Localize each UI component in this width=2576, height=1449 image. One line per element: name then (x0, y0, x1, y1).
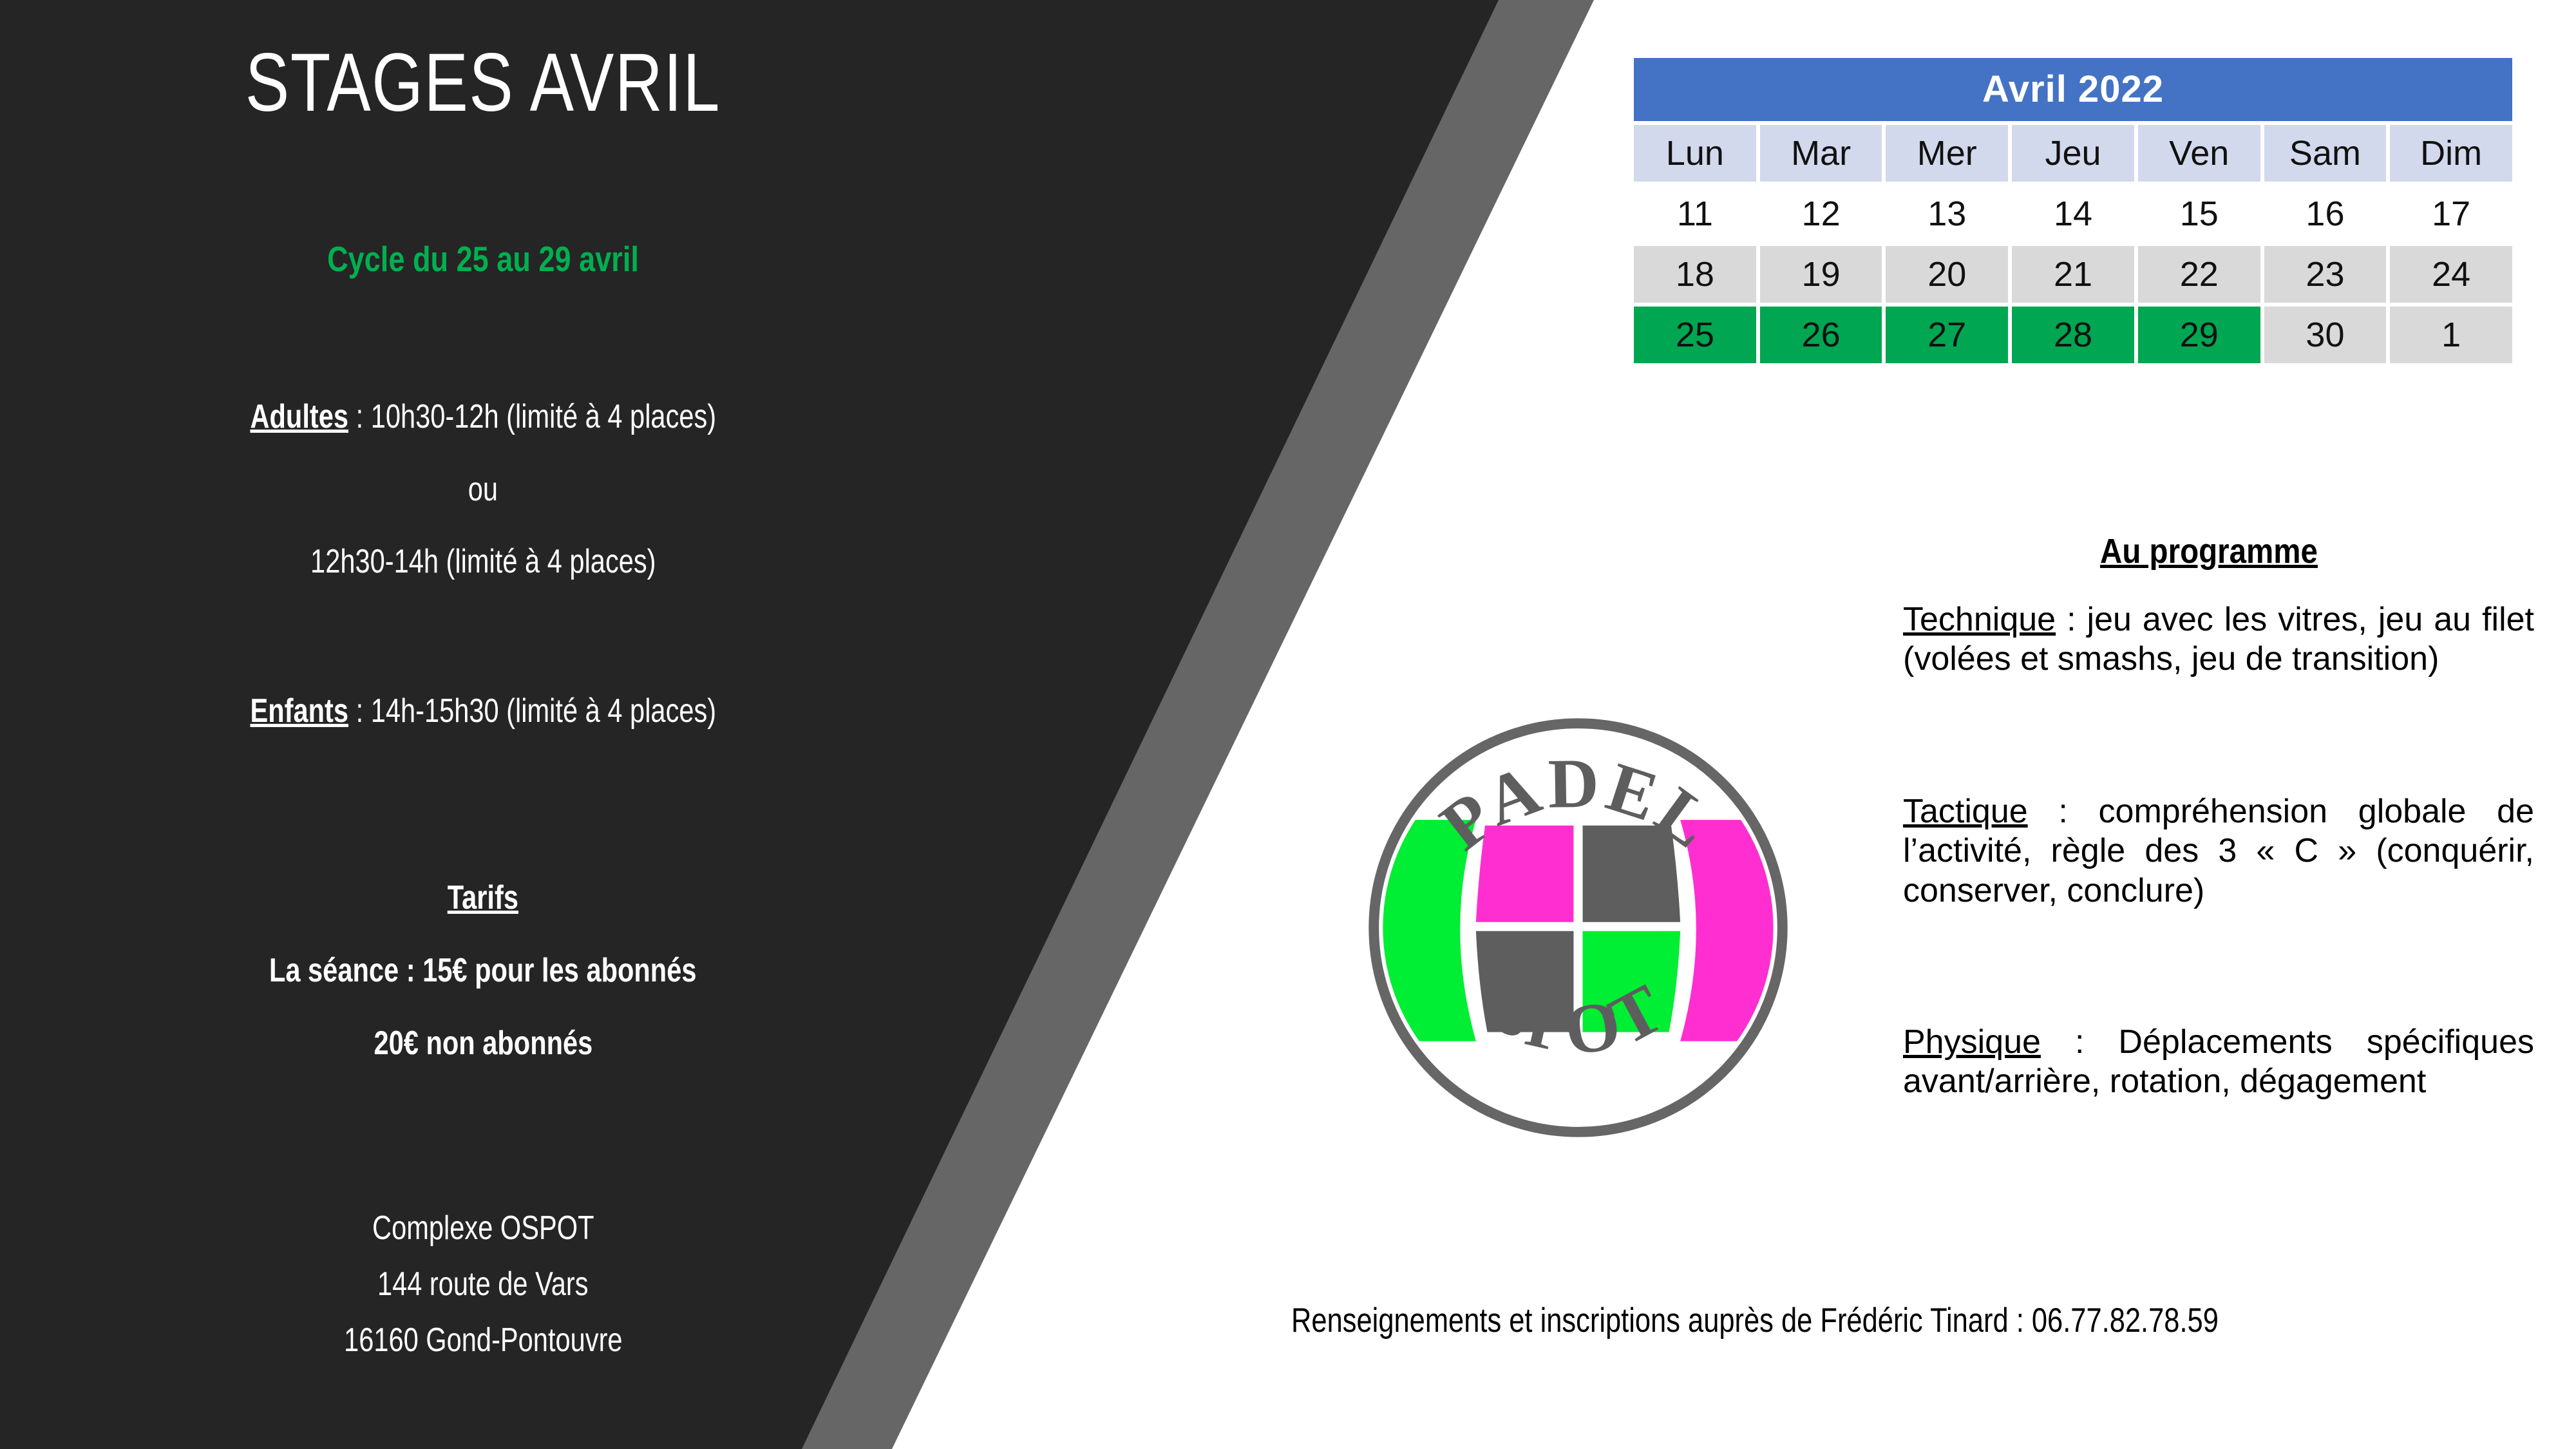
session-enfants-row: Enfants : 14h-15h30 (limité à 4 places) (0, 690, 966, 732)
contact-line-text: Renseignements et inscriptions auprès de… (1291, 1301, 2219, 1340)
calendar-week-row: 2526272829301 (1634, 307, 2512, 363)
programme-heading: Au programme (1926, 531, 2492, 571)
programme-item-tactique: Tactique : compréhension globale de l’ac… (1903, 792, 2534, 911)
calendar-weekday-lun: Lun (1634, 125, 1756, 182)
calendar-day-cell-26[interactable]: 26 (1760, 307, 1882, 363)
session-adultes-alt-row: 12h30-14h (limité à 4 places) (0, 541, 966, 583)
session-adultes-label: Adultes (250, 398, 348, 435)
cycle-subtitle: Cycle du 25 au 29 avril (87, 238, 879, 279)
programme-item-physique: Physique : Déplacements spécifiques avan… (1903, 1023, 2534, 1102)
session-enfants-separator: : (348, 692, 371, 730)
session-enfants-label: Enfants (250, 692, 348, 730)
programme-item-technique: Technique : jeu avec les vitres, jeu au … (1903, 600, 2534, 679)
address-line-2-text: 144 route de Vars (377, 1264, 589, 1305)
calendar-weekday-mer: Mer (1886, 125, 2008, 182)
calendar-widget: Avril 2022 LunMarMerJeuVenSamDim 1112131… (1634, 58, 2512, 363)
page-title: STAGES AVRIL (97, 40, 869, 126)
address-line-2: 144 route de Vars (0, 1264, 966, 1305)
calendar-weekday-sam: Sam (2264, 125, 2387, 182)
programme-item-physique-label: Physique (1903, 1023, 2041, 1061)
tarifs-line-1: La séance : 15€ pour les abonnés (0, 950, 966, 992)
calendar-day-cell-11[interactable]: 11 (1634, 185, 1756, 242)
calendar-weeks-container: 1112131415161718192021222324252627282930… (1634, 185, 2512, 363)
calendar-day-cell-19[interactable]: 19 (1760, 246, 1882, 303)
tarifs-line-1-text: La séance : 15€ pour les abonnés (269, 950, 697, 992)
calendar-day-cell-28[interactable]: 28 (2012, 307, 2134, 363)
calendar-day-cell-20[interactable]: 20 (1886, 246, 2008, 303)
session-or-text: ou (468, 469, 498, 511)
address-line-1-text: Complexe OSPOT (372, 1207, 594, 1249)
tarifs-heading-text: Tarifs (448, 877, 518, 919)
calendar-day-cell-13[interactable]: 13 (1886, 185, 2008, 242)
calendar-day-cell-14[interactable]: 14 (2012, 185, 2134, 242)
tarifs-heading: Tarifs (0, 877, 966, 919)
session-adultes-time: 10h30-12h (limité à 4 places) (370, 398, 715, 435)
calendar-day-cell-17[interactable]: 17 (2390, 185, 2512, 242)
session-adultes-separator: : (348, 398, 371, 435)
tarifs-line-2-text: 20€ non abonnés (374, 1023, 592, 1065)
calendar-weekday-mar: Mar (1760, 125, 1882, 182)
programme-item-technique-sep: : (2056, 601, 2087, 638)
calendar-week-row: 18192021222324 (1634, 246, 2512, 303)
padel-spot-logo: PADEL SPOT (1351, 701, 1805, 1155)
left-content-column: STAGES AVRIL Cycle du 25 au 29 avril Adu… (0, 0, 1056, 1449)
calendar-day-cell-18[interactable]: 18 (1634, 246, 1756, 303)
calendar-weekday-ven: Ven (2138, 125, 2260, 182)
session-enfants-time: 14h-15h30 (limité à 4 places) (370, 692, 715, 730)
programme-item-physique-sep: : (2041, 1023, 2119, 1061)
session-adultes-row: Adultes : 10h30-12h (limité à 4 places) (0, 396, 966, 438)
contact-line: Renseignements et inscriptions auprès de… (966, 1301, 2544, 1340)
programme-item-tactique-label: Tactique (1903, 793, 2028, 830)
calendar-day-cell-25[interactable]: 25 (1634, 307, 1756, 363)
tarifs-line-2: 20€ non abonnés (0, 1023, 966, 1065)
address-line-3-text: 16160 Gond-Pontouvre (344, 1320, 623, 1361)
calendar-day-cell-30[interactable]: 30 (2264, 307, 2387, 363)
calendar-day-cell-12[interactable]: 12 (1760, 185, 1882, 242)
calendar-month-title: Avril 2022 (1634, 58, 2512, 121)
session-adultes-time-2: 12h30-14h (limité à 4 places) (310, 541, 656, 583)
calendar-day-cell-1[interactable]: 1 (2390, 307, 2512, 363)
session-or-separator: ou (0, 469, 966, 511)
calendar-day-cell-24[interactable]: 24 (2390, 246, 2512, 303)
calendar-day-cell-22[interactable]: 22 (2138, 246, 2260, 303)
calendar-day-cell-21[interactable]: 21 (2012, 246, 2134, 303)
calendar-week-row: 11121314151617 (1634, 185, 2512, 242)
calendar-day-cell-23[interactable]: 23 (2264, 246, 2387, 303)
calendar-weekday-jeu: Jeu (2012, 125, 2134, 182)
calendar-weekday-header-row: LunMarMerJeuVenSamDim (1634, 125, 2512, 182)
calendar-weekday-dim: Dim (2390, 125, 2512, 182)
logo-top-text: PADEL (1426, 744, 1729, 865)
calendar-day-cell-29[interactable]: 29 (2138, 307, 2260, 363)
address-line-3: 16160 Gond-Pontouvre (0, 1320, 966, 1361)
calendar-day-cell-15[interactable]: 15 (2138, 185, 2260, 242)
programme-item-tactique-sep: : (2028, 793, 2099, 830)
logo-bottom-text: SPOT (1478, 967, 1678, 1070)
calendar-day-cell-27[interactable]: 27 (1886, 307, 2008, 363)
calendar-day-cell-16[interactable]: 16 (2264, 185, 2387, 242)
programme-item-technique-label: Technique (1903, 601, 2056, 638)
address-line-1: Complexe OSPOT (0, 1207, 966, 1249)
